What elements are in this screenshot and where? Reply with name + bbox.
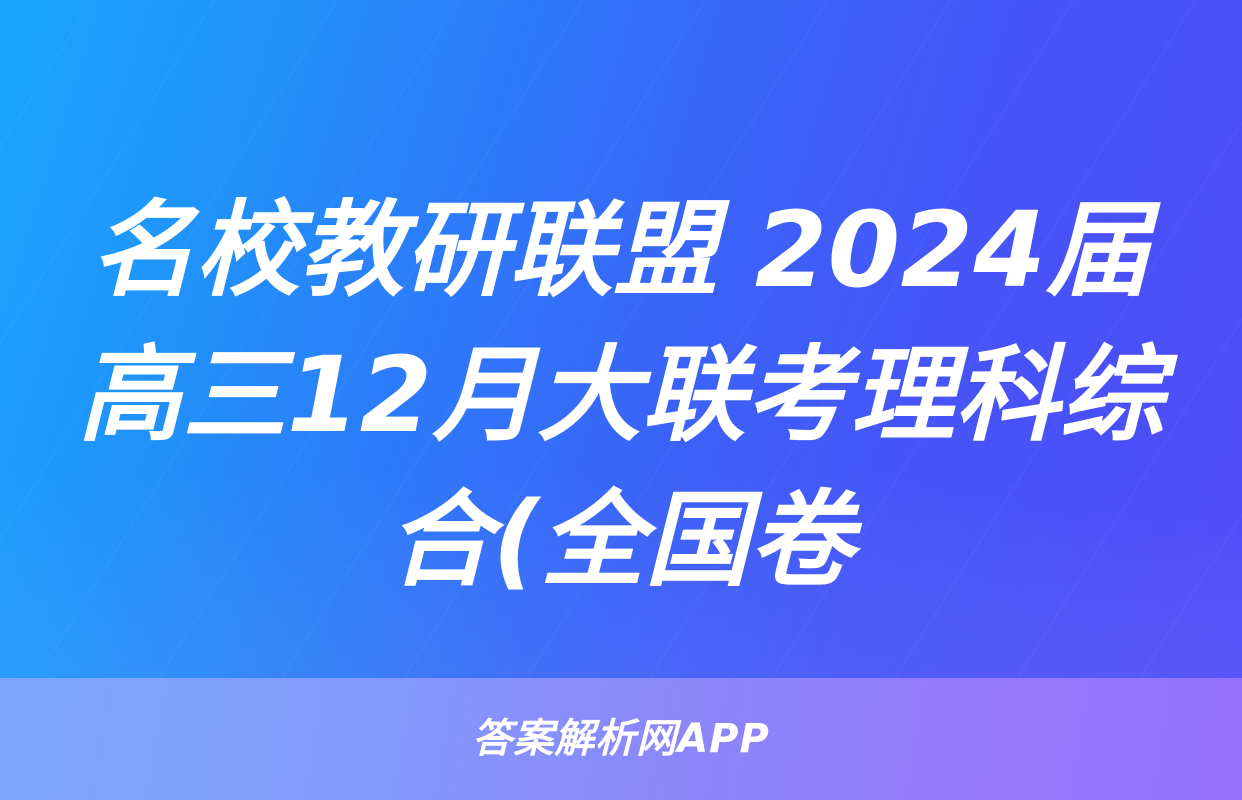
page-title: 名校教研联盟 2024届高三12月大联考理科综合(全国卷 (66, 178, 1176, 613)
watermark-band: 答案解析网APP (0, 678, 1242, 800)
watermark-label: 答案解析网APP (472, 719, 770, 759)
exam-cover-image: 名校教研联盟 2024届高三12月大联考理科综合(全国卷 答案解析网APP (0, 0, 1242, 800)
cover-title-block: 名校教研联盟 2024届高三12月大联考理科综合(全国卷 (0, 178, 1242, 613)
